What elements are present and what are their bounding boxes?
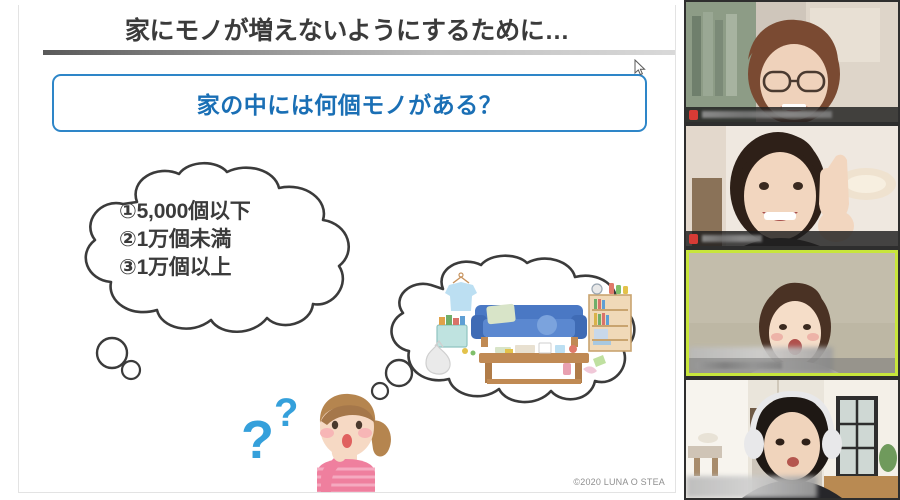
video-tile-2-name bbox=[696, 362, 782, 369]
question-text: 家の中には何個モノがある？ bbox=[197, 86, 503, 120]
video-tile-0-name bbox=[702, 111, 832, 118]
slide-frame: 家にモノが増えないようにするために… 家の中には何個モノがある？ ①5,000個… bbox=[18, 5, 676, 493]
video-tile-3-screen-blur bbox=[686, 476, 817, 498]
participant-video-rail bbox=[684, 0, 900, 500]
video-tile-1-namebar bbox=[686, 231, 898, 246]
meeting-screen-share-window: 家にモノが増えないようにするために… 家の中には何個モノがある？ ①5,000個… bbox=[0, 0, 900, 500]
question-callout-box: 家の中には何個モノがある？ bbox=[52, 74, 647, 132]
thinking-person-illustration bbox=[291, 387, 401, 493]
video-tile-0-namebar bbox=[686, 107, 898, 122]
title-divider bbox=[43, 50, 676, 55]
mouse-cursor bbox=[634, 59, 646, 76]
video-tile-2-feed bbox=[689, 253, 895, 373]
mute-icon bbox=[689, 234, 698, 244]
bookshelf-icon bbox=[589, 283, 631, 351]
video-tile-3[interactable] bbox=[686, 380, 898, 498]
mute-icon bbox=[689, 110, 698, 120]
copyright-notice: ©2020 LUNA O STEA bbox=[573, 477, 665, 487]
slide-title: 家にモノが増えないようにするために… bbox=[19, 11, 675, 47]
video-tile-0-feed bbox=[686, 2, 898, 122]
question-mark-large: ? bbox=[241, 409, 274, 471]
video-tile-2-namebar bbox=[689, 358, 895, 373]
video-tile-3-feed bbox=[686, 380, 898, 498]
video-tile-2[interactable] bbox=[686, 250, 898, 376]
video-tile-1-feed bbox=[686, 126, 898, 246]
shared-slide-area: 家にモノが増えないようにするために… 家の中には何個モノがある？ ①5,000個… bbox=[0, 0, 684, 500]
options-thought-cloud: ①5,000個以下 ②1万個未満 ③1万個以上 bbox=[67, 160, 367, 345]
options-list: ①5,000個以下 ②1万個未満 ③1万個以上 bbox=[119, 198, 251, 282]
video-tile-1-name bbox=[702, 235, 762, 242]
options-cloud-trail bbox=[84, 335, 154, 390]
video-tile-1[interactable] bbox=[686, 126, 898, 246]
video-tile-0[interactable] bbox=[686, 2, 898, 122]
